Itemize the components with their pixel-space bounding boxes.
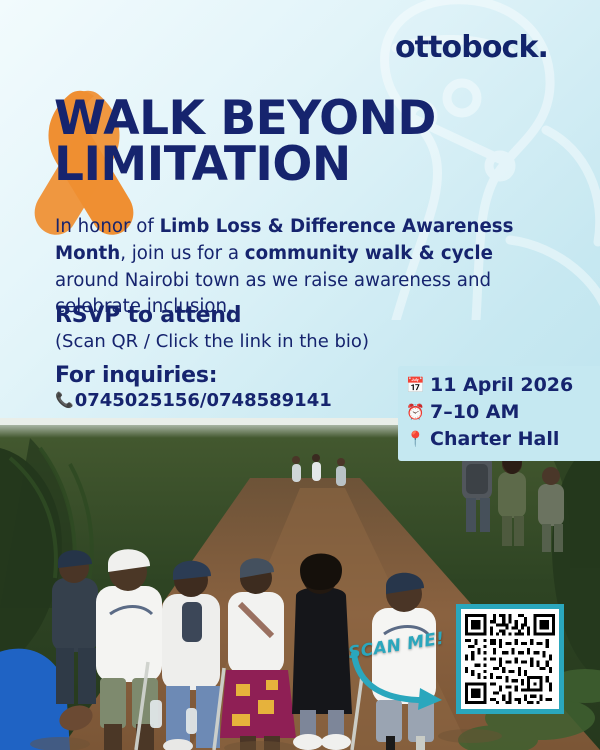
event-date: 11 April 2026 <box>430 372 573 399</box>
inquiries-title: For inquiries: <box>55 363 332 388</box>
location-pin-icon: 📍 <box>406 429 423 450</box>
qr-code-image[interactable] <box>461 609 559 709</box>
detail-row-venue: 📍 Charter Hall <box>406 426 592 453</box>
scan-me-arrow-icon <box>348 650 466 716</box>
event-venue: Charter Hall <box>430 426 559 453</box>
ottobock-logo: ottobock. <box>395 30 548 65</box>
description-part-1: In honor of <box>55 216 160 237</box>
qr-code-block[interactable] <box>456 604 564 714</box>
phone-icon: 📞 <box>55 393 74 408</box>
phone-numbers: 0745025156/0748589141 <box>75 390 332 411</box>
page-title: WALK BEYOND LIMITATION <box>54 96 436 188</box>
alarm-clock-icon: ⏰ <box>406 402 423 423</box>
description-bold-walk-cycle: community walk & cycle <box>245 243 493 264</box>
inquiries-block: For inquiries: 📞 0745025156/0748589141 <box>55 363 332 411</box>
detail-row-date: 📅 11 April 2026 <box>406 372 592 399</box>
event-poster: ottobock. WALK BEYOND LIMITATION In hono… <box>0 0 600 750</box>
headline-line-1: WALK BEYOND <box>54 96 436 142</box>
phone-numbers-row[interactable]: 📞 0745025156/0748589141 <box>55 390 332 411</box>
rsvp-subtitle: (Scan QR / Click the link in the bio) <box>55 331 369 352</box>
poster-header-panel: ottobock. WALK BEYOND LIMITATION In hono… <box>0 0 600 420</box>
event-details-panel: 📅 11 April 2026 ⏰ 7–10 AM 📍 Charter Hall <box>398 366 600 461</box>
calendar-icon: 📅 <box>406 375 423 396</box>
rsvp-title: RSVP to attend <box>55 303 369 328</box>
headline-line-2: LIMITATION <box>54 142 436 188</box>
rsvp-block: RSVP to attend (Scan QR / Click the link… <box>55 303 369 352</box>
event-time: 7–10 AM <box>430 399 519 426</box>
detail-row-time: ⏰ 7–10 AM <box>406 399 592 426</box>
description-part-2: , join us for a <box>120 243 245 264</box>
